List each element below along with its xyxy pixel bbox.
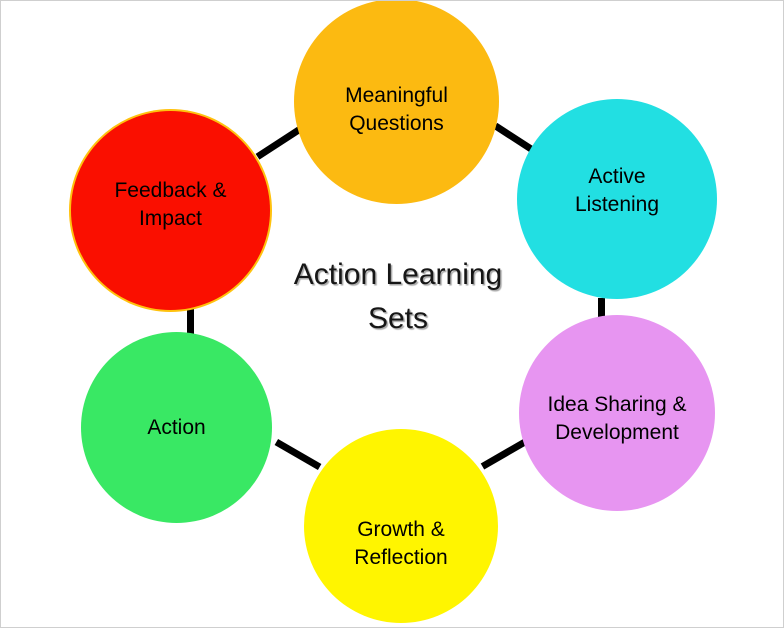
diagram-center-title: Action Learning Sets xyxy=(253,253,543,340)
node-label-feedback-impact: Feedback & Impact xyxy=(108,177,232,232)
node-label-active-listening: Active Listening xyxy=(569,163,665,218)
node-growth-reflection[interactable]: Growth & Reflection xyxy=(304,429,498,623)
node-label-idea-sharing-development: Idea Sharing & Development xyxy=(542,391,693,446)
node-meaningful-questions[interactable]: Meaningful Questions xyxy=(294,0,499,204)
connector-ideas-to-growth xyxy=(481,437,530,469)
node-idea-sharing-development[interactable]: Idea Sharing & Development xyxy=(519,315,715,511)
node-action[interactable]: Action xyxy=(81,332,272,523)
node-active-listening[interactable]: Active Listening xyxy=(517,99,717,299)
connector-growth-to-action xyxy=(275,439,322,470)
node-feedback-impact[interactable]: Feedback & Impact xyxy=(71,111,270,310)
node-label-growth-reflection: Growth & Reflection xyxy=(348,516,453,571)
action-learning-sets-diagram: Action Learning Sets Meaningful Question… xyxy=(0,0,784,628)
node-label-action: Action xyxy=(141,414,211,442)
node-label-meaningful-questions: Meaningful Questions xyxy=(339,82,454,137)
